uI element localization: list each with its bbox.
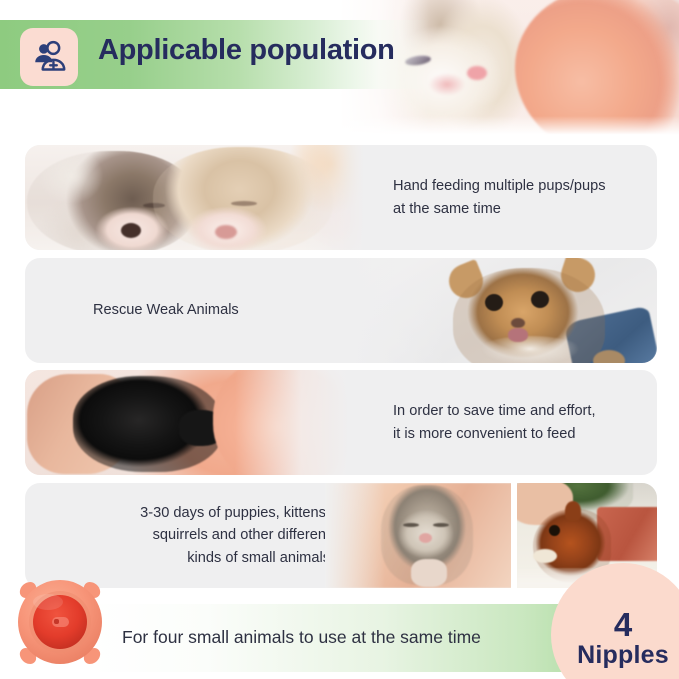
husky-puppies-photo xyxy=(25,145,373,250)
product-infographic-page: Applicable population Hand feeding multi… xyxy=(0,0,679,679)
black-puppy-feeding-photo xyxy=(25,370,355,475)
header-section: Applicable population xyxy=(0,0,679,138)
badge-number: 4 xyxy=(614,608,632,641)
feature-row-line: 3-30 days of puppies, kittens, xyxy=(140,502,330,524)
feature-row-text: Hand feeding multiple pups/pups at the s… xyxy=(393,145,653,250)
feature-row-line: Hand feeding multiple pups/pups xyxy=(393,175,653,197)
feature-row-text: 3-30 days of puppies, kittens, squirrels… xyxy=(80,483,330,588)
group-add-person-icon xyxy=(20,28,78,86)
feature-row: Rescue Weak Animals xyxy=(25,258,657,363)
feature-row-text: In order to save time and effort, it is … xyxy=(393,370,653,475)
feature-row-line: In order to save time and effort, xyxy=(393,400,653,422)
page-title: Applicable population xyxy=(98,34,395,67)
badge-label: Nipples xyxy=(577,643,669,668)
feature-row-line: kinds of small animals xyxy=(187,547,330,569)
feature-row: In order to save time and effort, it is … xyxy=(25,370,657,475)
feature-row-line: squirrels and other different xyxy=(153,524,330,546)
tabby-kitten-photo xyxy=(345,258,657,363)
feature-row-line: at the same time xyxy=(393,198,653,220)
feature-row: Hand feeding multiple pups/pups at the s… xyxy=(25,145,657,250)
product-feeder-disc-photo xyxy=(10,572,110,672)
feature-row: 3-30 days of puppies, kittens, squirrels… xyxy=(25,483,657,588)
footer-caption: For four small animals to use at the sam… xyxy=(122,626,552,649)
feature-row-line: it is more convenient to feed xyxy=(393,423,653,445)
